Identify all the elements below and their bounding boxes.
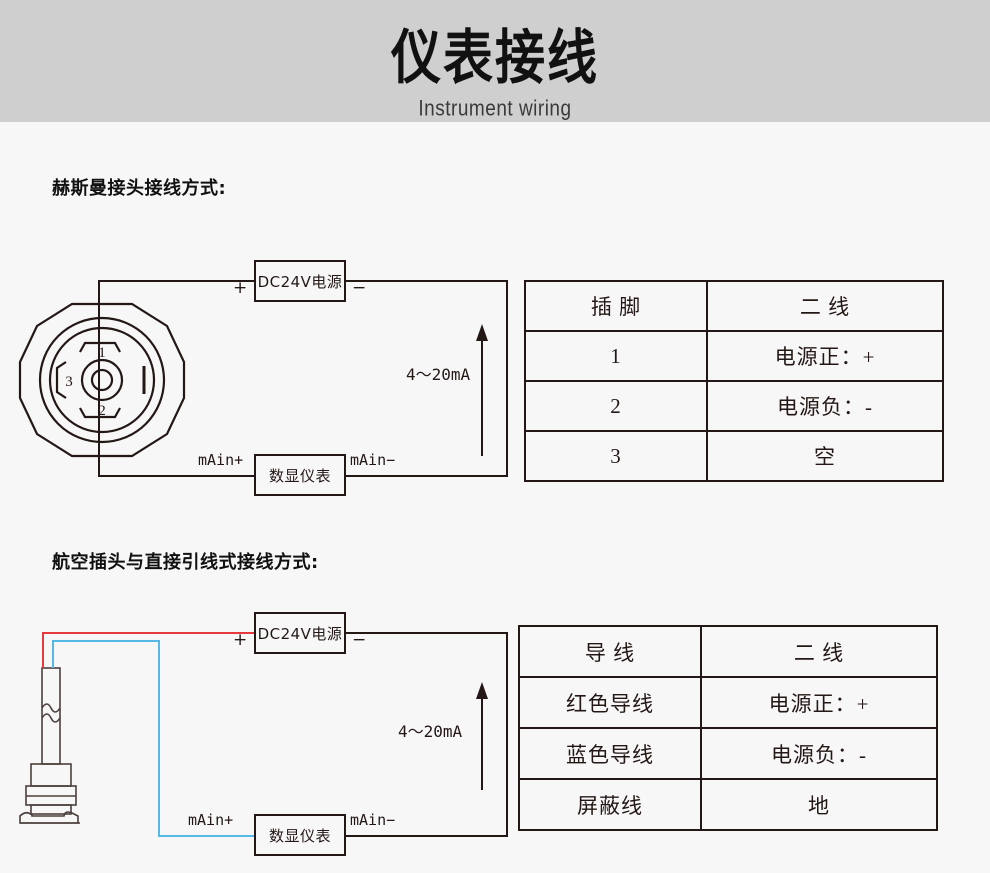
blue-wire-horizontal-bottom xyxy=(158,835,256,837)
power-plus-sign: + xyxy=(233,278,247,298)
current-direction-arrow-icon xyxy=(472,682,492,790)
sensor-probe-icon xyxy=(20,666,130,826)
dc24v-power-supply-box: DC24V电源 xyxy=(254,612,346,654)
loop-right-wire xyxy=(506,280,508,477)
current-direction-arrow-icon xyxy=(472,324,492,456)
power-supply-label: DC24V电源 xyxy=(258,623,343,644)
current-range-label: 4〜20mA xyxy=(406,361,470,385)
connector-center-wire xyxy=(98,280,100,477)
page-title: 仪表接线 xyxy=(391,26,599,91)
table-row: 3 空 xyxy=(525,431,943,481)
top-supply-wire-right xyxy=(344,280,508,282)
bottom-meter-wire-left xyxy=(98,475,256,477)
hirschmann-connector-icon: 1 2 3 xyxy=(12,300,192,460)
aviation-plug-wire-table: 导 线 二 线 红色导线 电源正：+ 蓝色导线 电源负：- 屏蔽线 地 xyxy=(518,625,938,831)
cell-function: 空 xyxy=(707,431,943,481)
table-row: 2 电源负：- xyxy=(525,381,943,431)
cell-function: 电源负：- xyxy=(701,728,937,779)
section-heading-aviation-plug: 航空插头与直接引线式接线方式: xyxy=(52,548,319,574)
table-row: 蓝色导线 电源负：- xyxy=(519,728,937,779)
hirschmann-pin-table: 插 脚 二 线 1 电源正：+ 2 电源负：- 3 空 xyxy=(524,280,944,482)
table-header-row: 插 脚 二 线 xyxy=(525,281,943,331)
table-row: 1 电源正：+ xyxy=(525,331,943,381)
meter-input-plus-label: mAin+ xyxy=(188,811,233,829)
power-minus-sign: − xyxy=(352,630,366,650)
page-banner: 仪表接线 Instrument wiring xyxy=(0,0,990,122)
cell-wire: 屏蔽线 xyxy=(519,779,701,830)
digital-meter-box: 数显仪表 xyxy=(254,814,346,856)
cell-pin: 2 xyxy=(525,381,707,431)
power-supply-label: DC24V电源 xyxy=(258,271,343,292)
red-wire-vertical xyxy=(42,632,44,668)
loop-right-wire xyxy=(506,632,508,837)
meter-input-minus-label: mAin− xyxy=(350,811,395,829)
table-header-row: 导 线 二 线 xyxy=(519,626,937,677)
blue-wire-vertical-left xyxy=(52,640,54,668)
cell-wire: 蓝色导线 xyxy=(519,728,701,779)
digital-meter-label: 数显仪表 xyxy=(269,825,331,846)
cell-pin: 1 xyxy=(525,331,707,381)
table-row: 红色导线 电源正：+ xyxy=(519,677,937,728)
wiring-instruction-page: 仪表接线 Instrument wiring 赫斯曼接头接线方式: 1 xyxy=(0,0,990,873)
header-wire: 导 线 xyxy=(519,626,701,677)
meter-input-plus-label: mAin+ xyxy=(198,451,243,469)
blue-wire-vertical-drop xyxy=(158,640,160,836)
top-supply-wire-right xyxy=(344,632,508,634)
page-subtitle: Instrument wiring xyxy=(418,97,571,122)
cell-function: 地 xyxy=(701,779,937,830)
header-wire-type: 二 线 xyxy=(707,281,943,331)
power-plus-sign: + xyxy=(233,630,247,650)
current-range-label: 4〜20mA xyxy=(398,718,462,742)
dc24v-power-supply-box: DC24V电源 xyxy=(254,260,346,302)
power-minus-sign: − xyxy=(352,278,366,298)
bottom-meter-wire-right xyxy=(344,475,508,477)
digital-meter-box: 数显仪表 xyxy=(254,454,346,496)
table-row: 屏蔽线 地 xyxy=(519,779,937,830)
cell-function: 电源负：- xyxy=(707,381,943,431)
cell-pin: 3 xyxy=(525,431,707,481)
cell-function: 电源正：+ xyxy=(707,331,943,381)
cell-wire: 红色导线 xyxy=(519,677,701,728)
blue-wire-horizontal-top xyxy=(52,640,160,642)
digital-meter-label: 数显仪表 xyxy=(269,465,331,486)
hirschmann-wiring-diagram: 1 2 3 DC24V电源 + − 数显仪表 mAin+ mAin− 4〜20m… xyxy=(0,240,520,500)
aviation-plug-wiring-diagram: DC24V电源 + − 数显仪表 mAin+ mAin− 4〜20mA xyxy=(0,600,520,865)
bottom-meter-wire-right xyxy=(344,835,508,837)
section-heading-hirschmann: 赫斯曼接头接线方式: xyxy=(52,174,226,200)
red-wire-horizontal xyxy=(42,632,256,634)
header-wire-type: 二 线 xyxy=(701,626,937,677)
header-pin: 插 脚 xyxy=(525,281,707,331)
svg-text:3: 3 xyxy=(65,374,73,390)
meter-input-minus-label: mAin− xyxy=(350,451,395,469)
cell-function: 电源正：+ xyxy=(701,677,937,728)
